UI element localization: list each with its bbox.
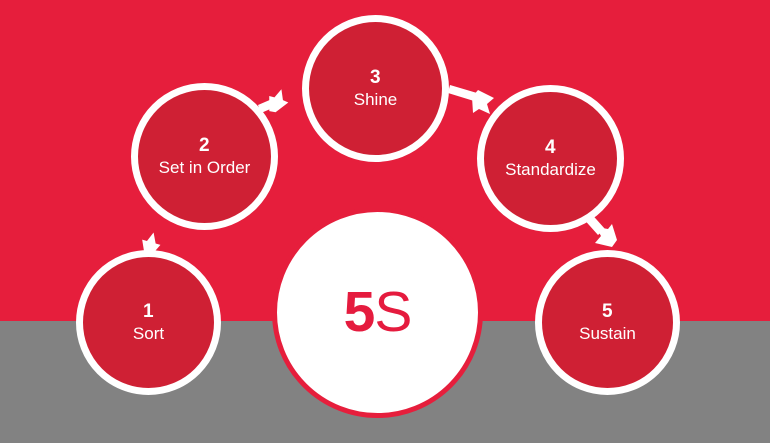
step-node-sustain[interactable]: 5 Sustain [535,250,680,395]
step-node-set-in-order[interactable]: 2 Set in Order [131,83,278,230]
step-label: Sustain [579,325,636,343]
center-label: 5S [344,284,412,341]
step-number: 4 [545,138,556,158]
step-number: 2 [199,136,210,156]
step-label: Standardize [505,161,596,179]
step-number: 1 [143,302,154,322]
step-node-standardize[interactable]: 4 Standardize [477,85,624,232]
step-label: Shine [354,91,397,109]
connector-arrow-3-to-4 [448,85,494,114]
step-node-sort[interactable]: 1 Sort [76,250,221,395]
step-number: 3 [370,68,381,88]
center-label-digit: 5 [344,284,375,341]
step-node-shine[interactable]: 3 Shine [302,15,449,162]
center-node-5s[interactable]: 5S [272,207,483,418]
connector-arrow-2-to-3 [258,89,289,114]
step-number: 5 [602,302,613,322]
step-label: Sort [133,325,164,343]
center-label-letter: S [374,284,411,341]
5s-diagram: 1 Sort 2 Set in Order 3 Shine 4 Standard… [0,0,770,443]
step-label: Set in Order [159,159,251,177]
